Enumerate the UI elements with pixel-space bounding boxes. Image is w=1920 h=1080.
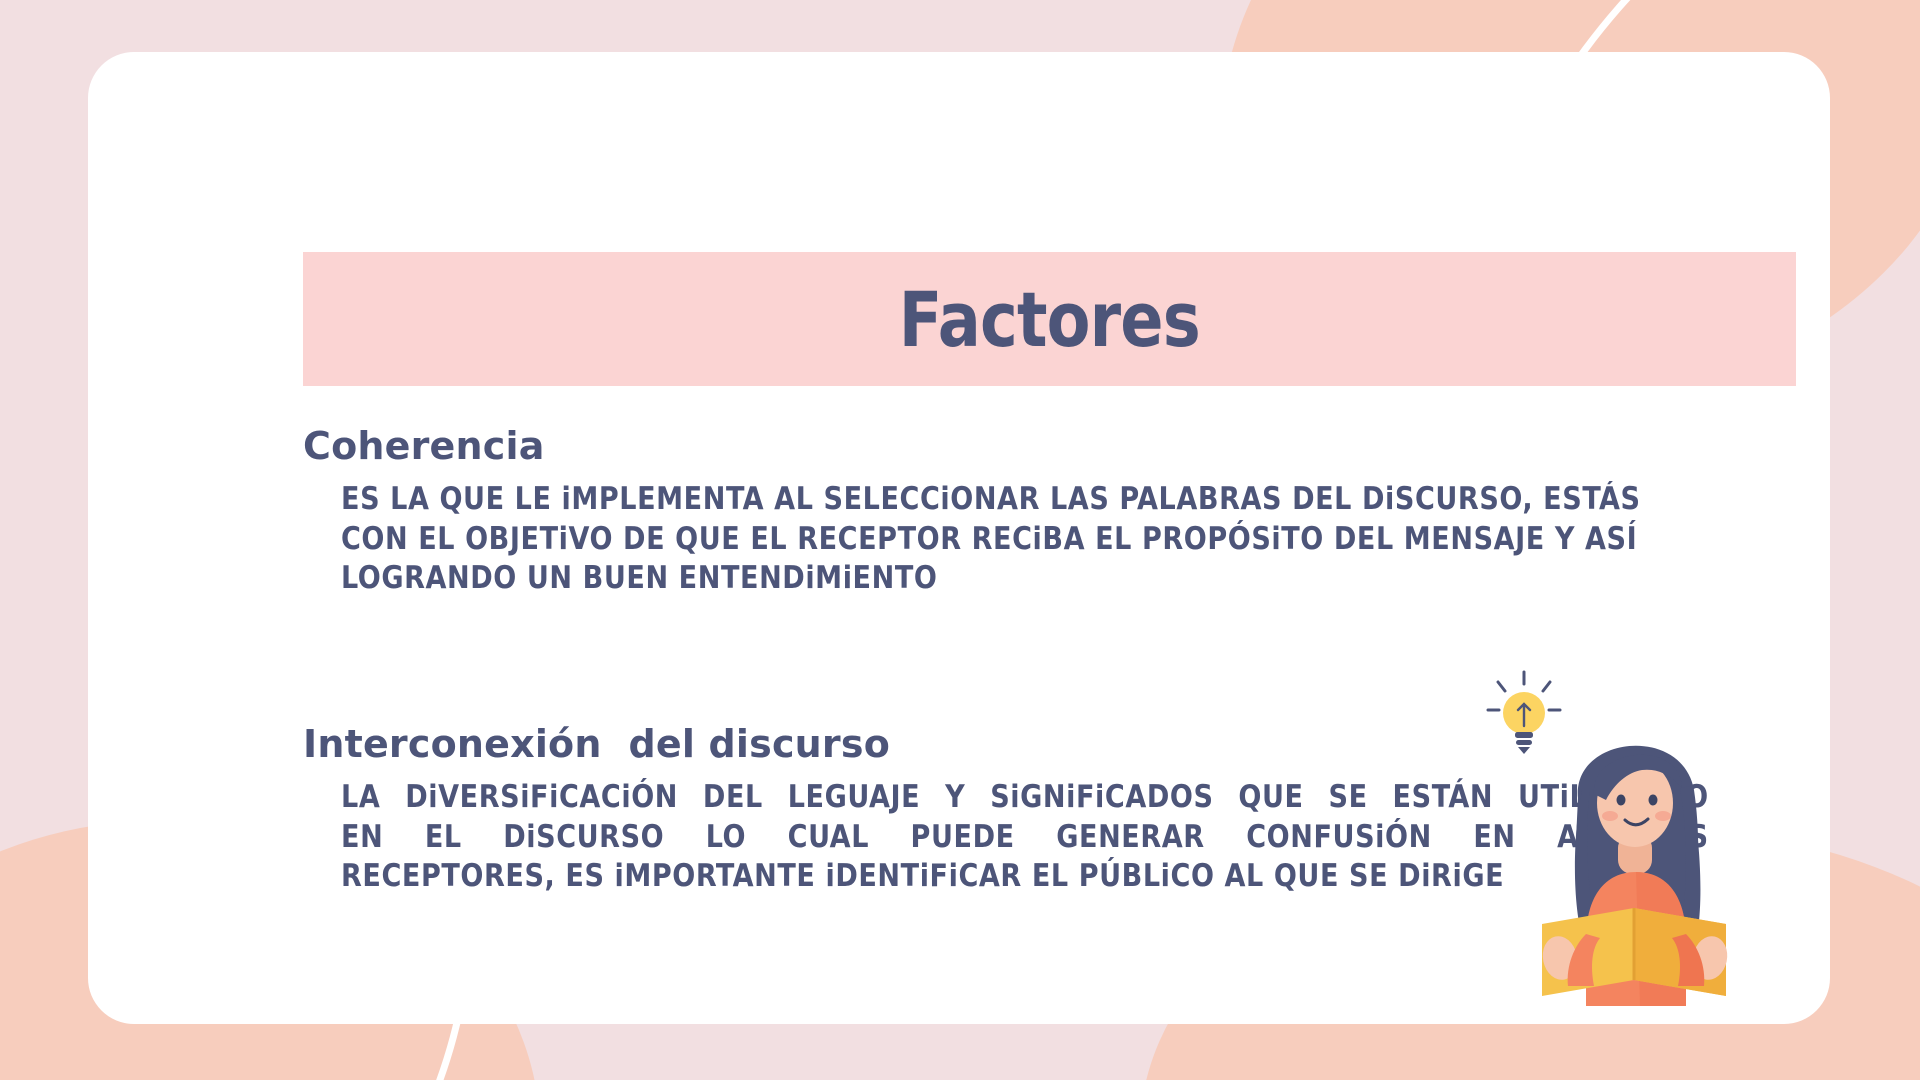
sleeve-right (1672, 934, 1704, 986)
hand-left (1539, 933, 1581, 983)
body-line: LA DiVERSiFiCACiÓN DEL LEGUAJE Y SiGNiFi… (341, 778, 1709, 818)
section-coherencia: Coherencia ES LA QUE LE iMPLEMENTA AL SE… (303, 424, 1803, 599)
page-title: Factores (899, 275, 1200, 364)
body-line: RECEPTORES, ES iMPORTANTE iDENTiFiCAR EL… (341, 857, 1709, 897)
section-interconexion: Interconexión del discurso LA DiVERSiFiC… (303, 722, 1803, 897)
lightbulb-icon (1488, 672, 1560, 710)
section-body-1: ES LA QUE LE iMPLEMENTA AL SELECCiONAR L… (341, 480, 1709, 599)
body-line: LOGRANDO UN BUEN ENTENDiMiENTO (341, 559, 1709, 599)
sleeve-left (1568, 934, 1600, 986)
body-line: ES LA QUE LE iMPLEMENTA AL SELECCiONAR L… (341, 480, 1709, 520)
hand-right (1689, 933, 1731, 983)
section-heading-2: Interconexión del discurso (303, 722, 1803, 766)
body-line: CON EL OBJETiVO DE QUE EL RECEPTOR RECiB… (341, 520, 1709, 560)
open-book-icon (1542, 908, 1726, 996)
slide-canvas: Factores Coherencia ES LA QUE LE iMPLEME… (0, 0, 1920, 1080)
content-card: Factores Coherencia ES LA QUE LE iMPLEME… (88, 52, 1830, 1024)
section-body-2: LA DiVERSiFiCACiÓN DEL LEGUAJE Y SiGNiFi… (341, 778, 1709, 897)
body-line: EN EL DiSCURSO LO CUAL PUEDE GENERAR CON… (341, 818, 1709, 858)
section-heading-1: Coherencia (303, 424, 1803, 468)
title-banner: Factores (303, 252, 1796, 386)
